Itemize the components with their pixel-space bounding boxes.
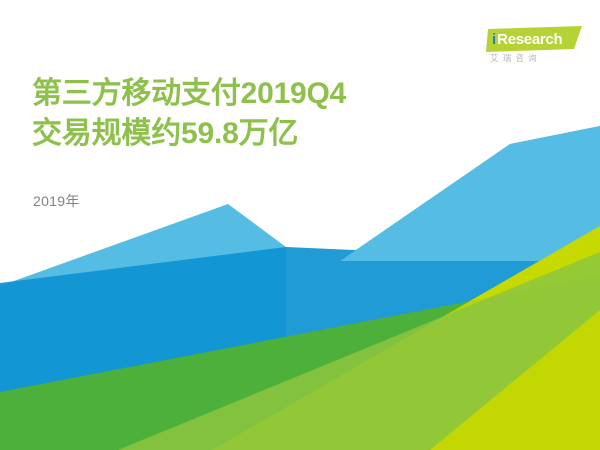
logo-wordmark: iResearch [486,26,582,52]
page-title-line-2: 交易规模约59.8万亿 [32,114,452,154]
logo-chinese-name: 艾瑞咨询 [490,54,574,63]
logo-letter-i: i [492,32,496,47]
iresearch-logo: iResearch 艾瑞咨询 [486,26,582,68]
presentation-slide: iResearch 艾瑞咨询 第三方移动支付2019Q4 交易规模约59.8万亿… [0,0,600,450]
logo-wordmark-text: Research [497,32,562,47]
page-title-line-1: 第三方移动支付2019Q4 [32,74,452,114]
page-title: 第三方移动支付2019Q4 交易规模约59.8万亿 [32,74,452,154]
page-subtitle-year: 2019年 [33,194,80,208]
